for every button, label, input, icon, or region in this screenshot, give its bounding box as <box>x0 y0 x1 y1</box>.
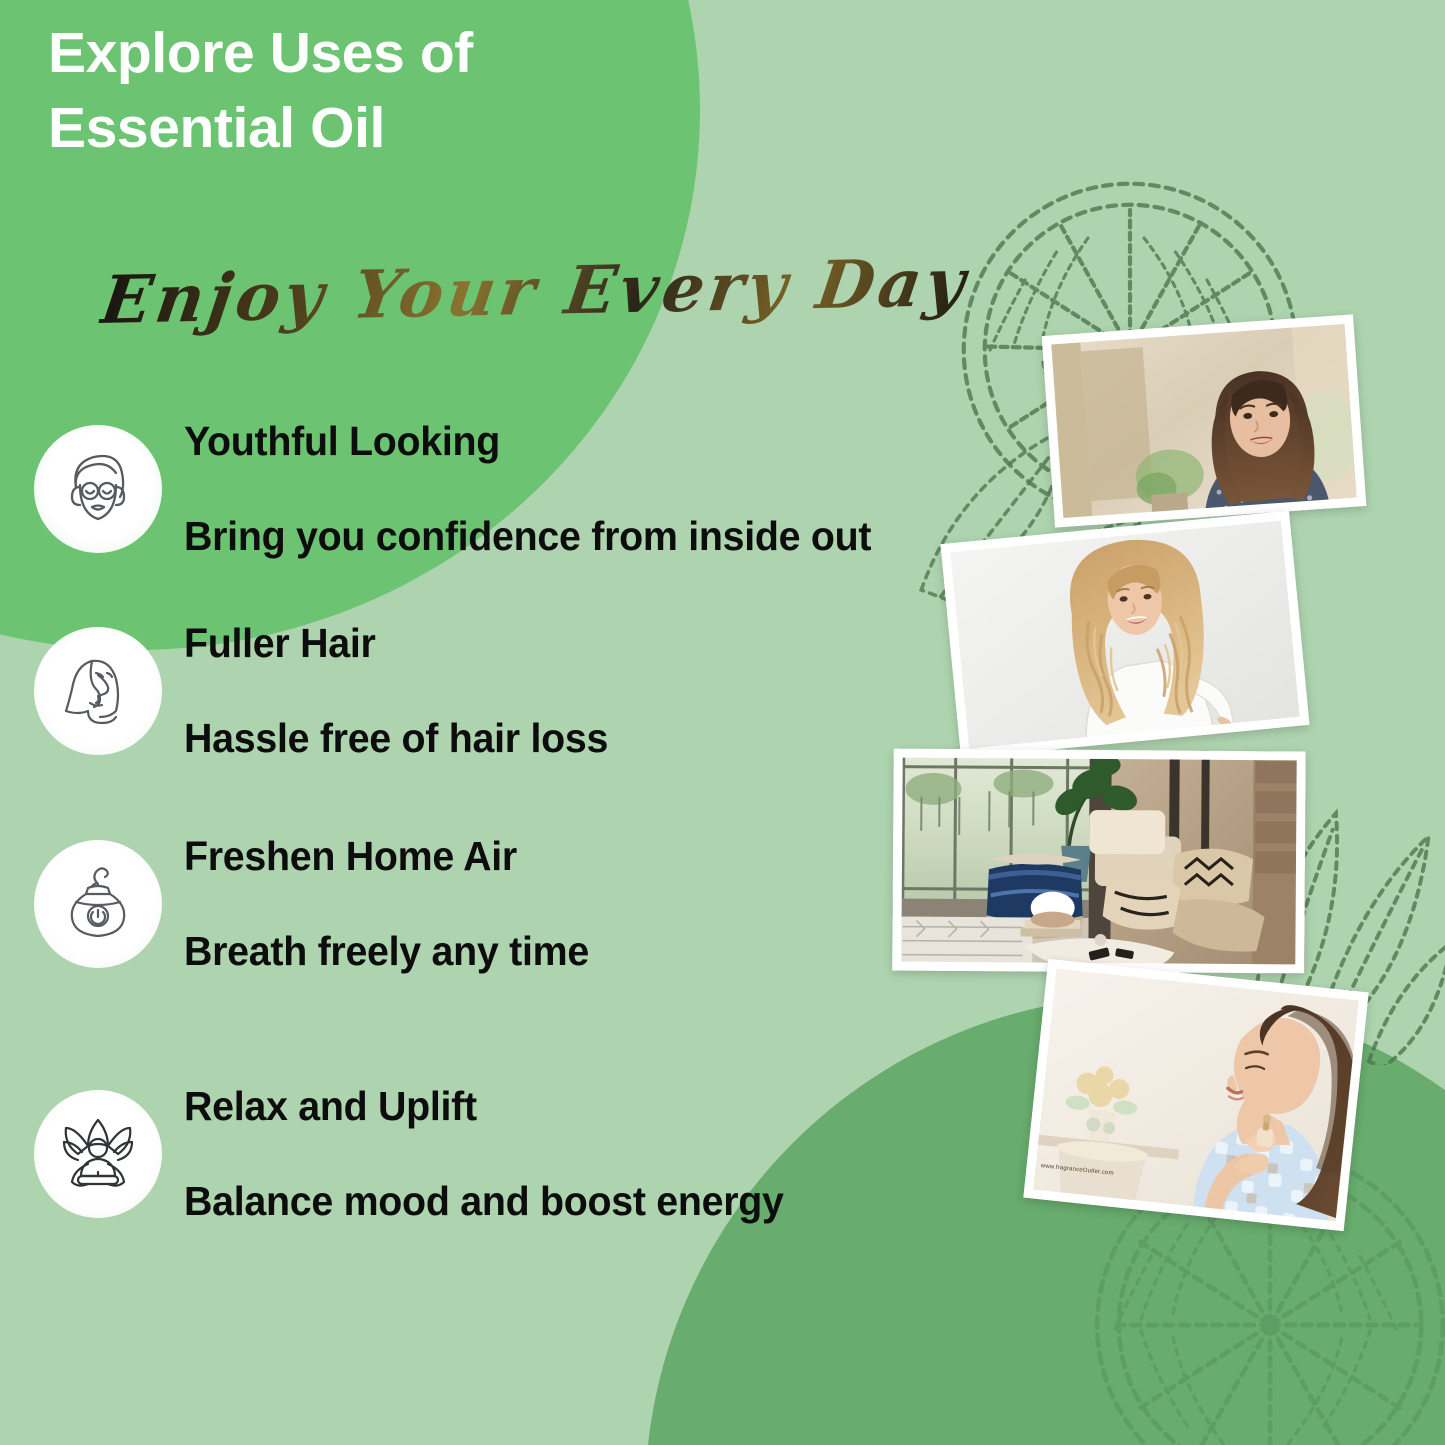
benefit-item-fuller-hair: Fuller Hair Hassle free of hair loss <box>34 572 626 810</box>
facial-mask-icon <box>34 425 162 553</box>
photo-smiling-woman-indoors <box>1042 314 1367 527</box>
benefit-subtitle: Hassle free of hair loss <box>184 715 608 763</box>
benefit-title: Fuller Hair <box>184 620 608 668</box>
aroma-diffuser-icon <box>34 840 162 968</box>
benefit-text: Relax and Uplift Balance mood and boost … <box>184 1035 784 1273</box>
benefit-item-relax-and-uplift: Relax and Uplift Balance mood and boost … <box>34 1035 809 1273</box>
page-title: Explore Uses of Essential Oil <box>48 16 473 166</box>
benefit-item-freshen-home-air: Freshen Home Air Breath freely any time <box>34 785 606 1023</box>
photo-woman-long-wavy-hair <box>941 511 1310 759</box>
benefit-subtitle: Breath freely any time <box>184 928 589 976</box>
benefit-subtitle: Bring you confidence from inside out <box>184 513 871 561</box>
benefit-title: Relax and Uplift <box>184 1083 784 1131</box>
benefit-text: Fuller Hair Hassle free of hair loss <box>184 572 608 810</box>
poster-canvas: Explore Uses of Essential Oil Enjoy Your… <box>0 0 1445 1445</box>
benefit-title: Youthful Looking <box>184 418 871 466</box>
hair-profile-icon <box>34 627 162 755</box>
benefit-text: Freshen Home Air Breath freely any time <box>184 785 589 1023</box>
photo-living-room-diffuser <box>892 749 1306 974</box>
benefit-title: Freshen Home Air <box>184 833 589 881</box>
lotus-meditation-icon <box>34 1090 162 1218</box>
benefit-subtitle: Balance mood and boost energy <box>184 1178 784 1226</box>
photo-woman-applying-fragrance: www.fragranceOutlet.com <box>1023 959 1368 1231</box>
